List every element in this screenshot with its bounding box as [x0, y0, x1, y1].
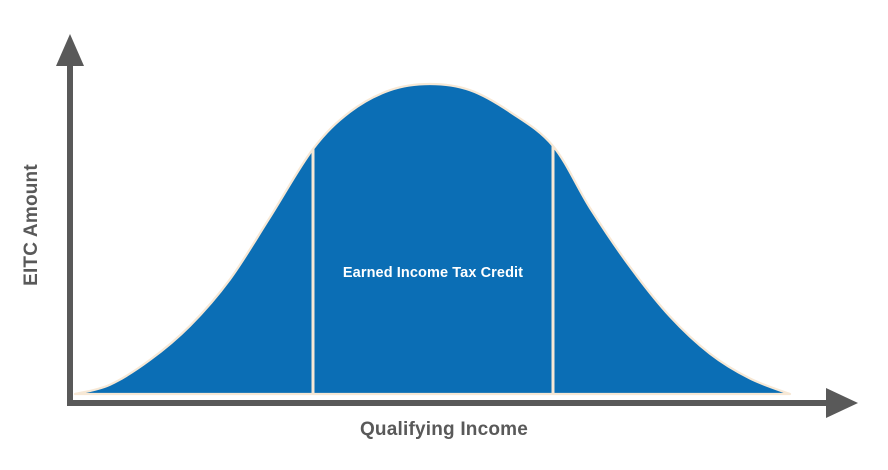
eitc-bell-curve-chart: EITC Amount Qualifying Income Earned Inc… [0, 0, 888, 470]
eitc-curve-area [75, 84, 790, 394]
y-axis [56, 34, 84, 403]
chart-canvas [0, 0, 888, 470]
x-axis-title: Qualifying Income [0, 419, 888, 441]
eitc-curve-path [75, 84, 790, 394]
y-axis-arrow-icon [56, 34, 84, 66]
plateau-region-label: Earned Income Tax Credit [0, 265, 866, 281]
x-axis-arrow-icon [826, 388, 858, 418]
y-axis-title: EITC Amount [21, 75, 43, 375]
